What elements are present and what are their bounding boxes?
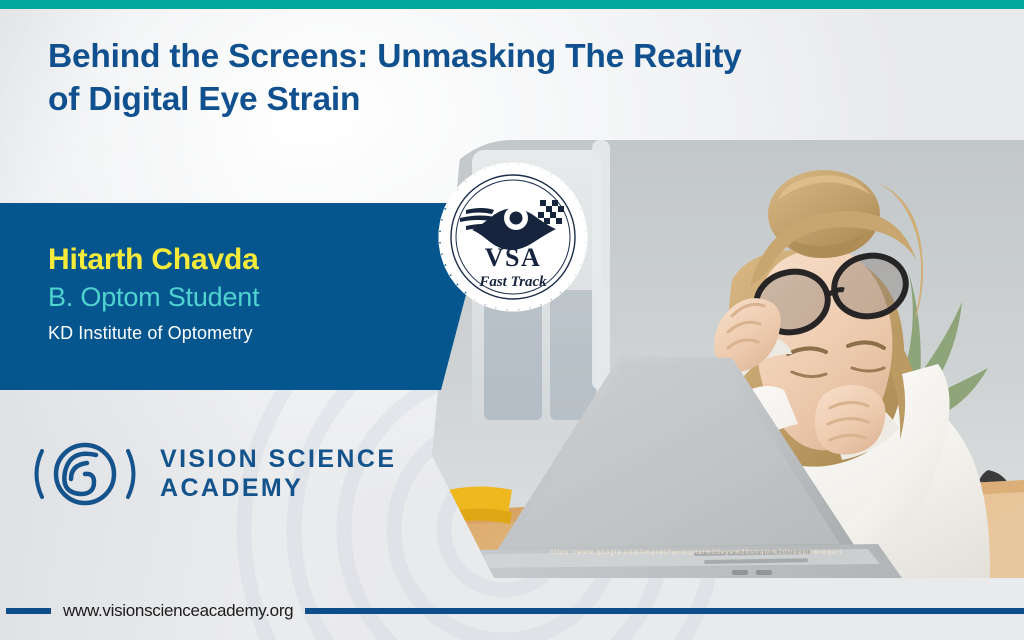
speaker-name: Hitarth Chavda: [48, 243, 468, 278]
footer-url[interactable]: www.visionscienceacademy.org: [51, 601, 305, 621]
logo-word-line-2: ACADEMY: [160, 474, 396, 504]
speaker-role: B. Optom Student: [48, 280, 468, 315]
logo-word-line-1: VISION SCIENCE: [160, 445, 396, 475]
page-title: Behind the Screens: Unmasking The Realit…: [48, 36, 928, 122]
speaker-institution: KD Institute of Optometry: [48, 321, 468, 345]
vsa-logo-wordmark: VISION SCIENCE ACADEMY: [160, 445, 396, 504]
footer-rule-left: [6, 608, 51, 614]
top-accent-bar: [0, 0, 1024, 9]
footer-rule-right: [305, 608, 1024, 614]
footer: www.visionscienceacademy.org: [0, 582, 1024, 640]
title-line-2: of Digital Eye Strain: [48, 79, 928, 122]
presentation-slide: Behind the Screens: Unmasking The Realit…: [0, 0, 1024, 640]
vsa-logo: VISION SCIENCE ACADEMY: [24, 437, 396, 511]
vsa-spiral-eye-icon: [24, 437, 146, 511]
vsa-fast-track-badge: VSA Fast Track: [438, 162, 588, 312]
title-line-1: Behind the Screens: Unmasking The Realit…: [48, 38, 742, 75]
badge-acronym: VSA: [485, 243, 542, 272]
speaker-details: Hitarth Chavda B. Optom Student KD Insti…: [48, 243, 468, 345]
badge-tagline: Fast Track: [478, 274, 547, 290]
photo-credit: https://www.google.com/imgres?q=digital%…: [550, 549, 842, 556]
